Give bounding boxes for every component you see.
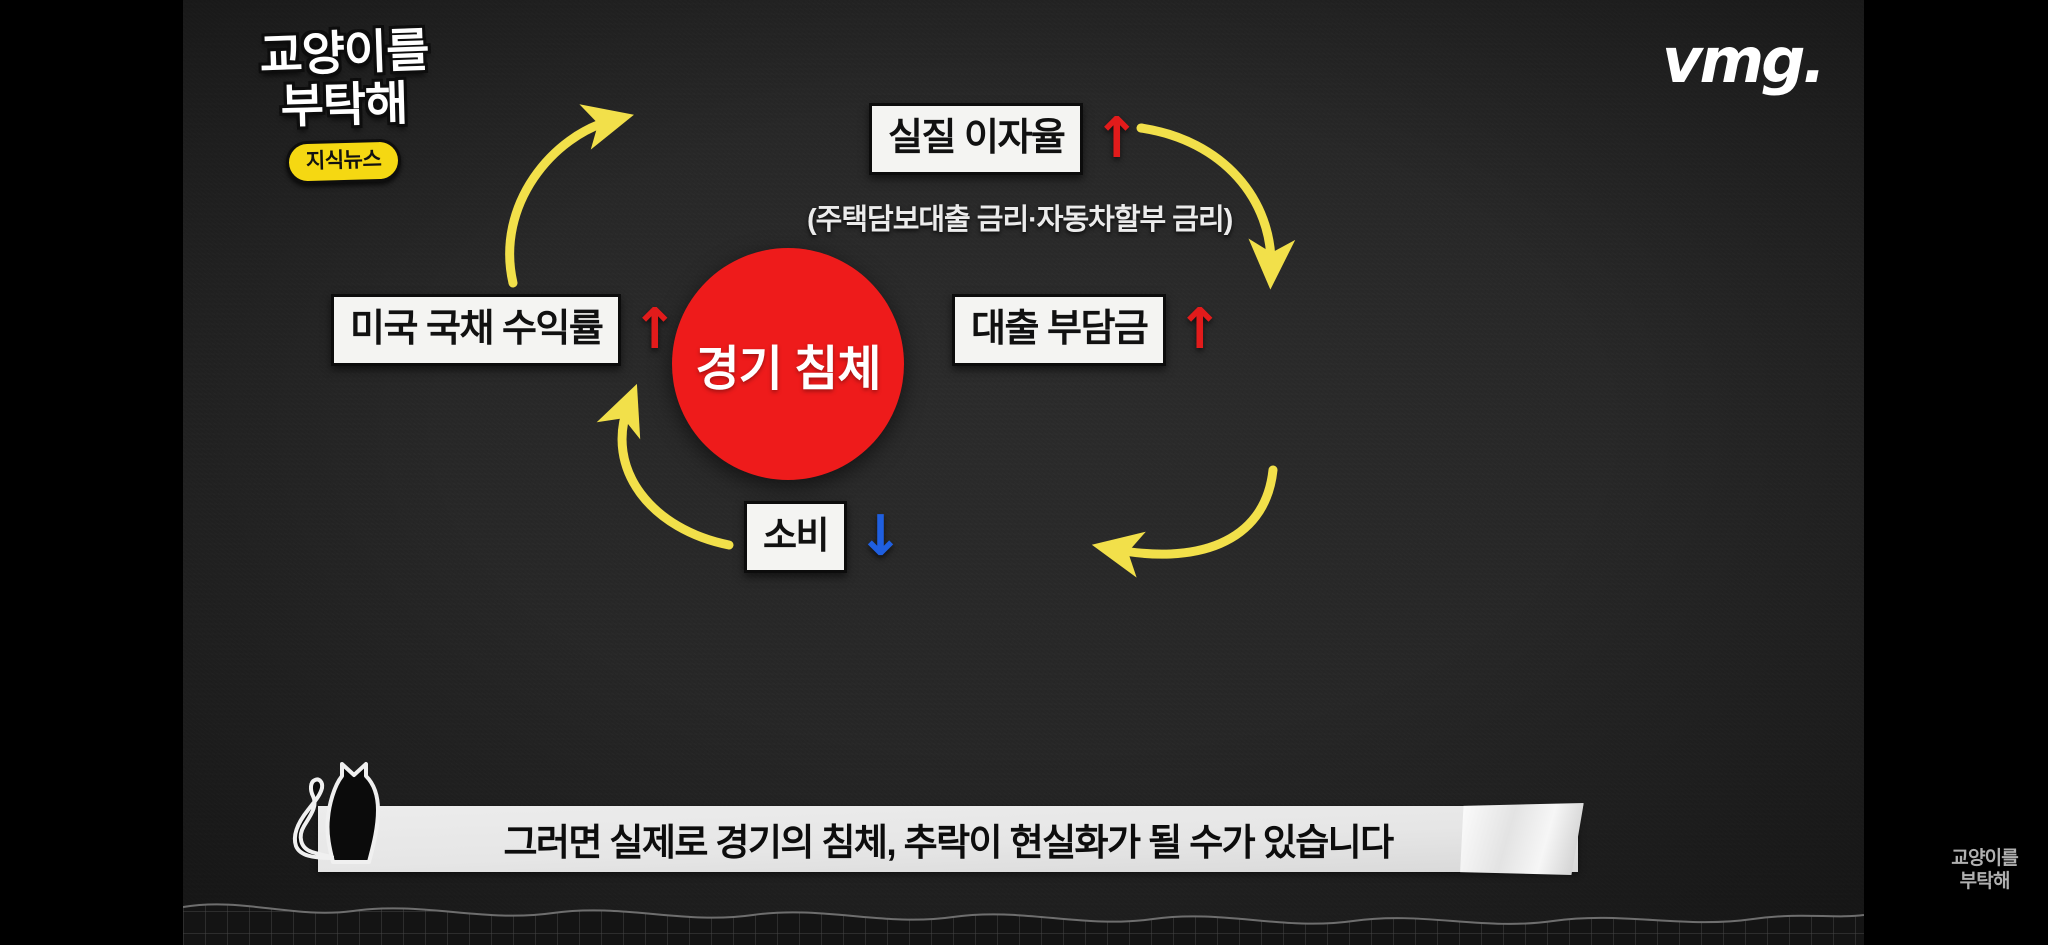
channel-logo-line2: 부탁해 (233, 77, 454, 133)
watermark-line1: 교양이를 (1951, 847, 2018, 870)
channel-logo-badge: 지식뉴스 (286, 138, 402, 184)
channel-logo-line1: 교양이를 (233, 24, 455, 82)
caption-bar: 그러면 실제로 경기의 침체, 추락이 현실화가 될 수가 있습니다 (318, 806, 1578, 872)
publisher-logo: vmg. (1662, 30, 1823, 92)
trend-down-arrow-icon: ↓ (857, 514, 904, 560)
channel-logo: 교양이를 부탁해 지식뉴스 (234, 28, 454, 183)
node-label-us-treasury-yield: 미국 국채 수익률 (331, 294, 621, 366)
torn-paper-bottom-edge (183, 867, 1864, 945)
cat-mascot-icon (270, 758, 390, 878)
diagram-node-real-interest-rate: 실질 이자율 ↑ (869, 103, 1140, 175)
diagram-node-us-treasury-yield: 미국 국채 수익률 ↑ (331, 294, 678, 366)
diagram-node-consumption: 소비 ↓ (744, 501, 904, 573)
caption-text: 그러면 실제로 경기의 침체, 추락이 현실화가 될 수가 있습니다 (503, 812, 1392, 866)
trend-up-arrow-icon: ↑ (1093, 116, 1140, 162)
letterbox-bar-left (0, 0, 183, 945)
center-node-label: 경기 침체 (696, 329, 881, 399)
screenshot-root: 경기 침체 실질 이자율 ↑ (주택담보대출 금리·자동차할부 금리) 미국 국… (0, 0, 2048, 945)
node-label-loan-burden: 대출 부담금 (952, 294, 1166, 366)
arc-right-to-bottom (1113, 470, 1273, 554)
arc-left-to-top (510, 120, 613, 283)
node-label-consumption: 소비 (744, 501, 847, 573)
letterbox-bar-right (1864, 0, 2048, 945)
node-label-real-interest-rate: 실질 이자율 (869, 103, 1083, 175)
trend-up-arrow-icon: ↑ (631, 307, 678, 353)
corner-watermark: 교양이를 부탁해 (1951, 847, 2018, 893)
node-sublabel-real-interest-rate: (주택담보대출 금리·자동차할부 금리) (807, 196, 1232, 238)
diagram-center-node: 경기 침체 (672, 248, 904, 480)
trend-up-arrow-icon: ↑ (1176, 307, 1223, 353)
watermark-line2: 부탁해 (1951, 870, 2018, 893)
diagram-node-loan-burden: 대출 부담금 ↑ (952, 294, 1223, 366)
